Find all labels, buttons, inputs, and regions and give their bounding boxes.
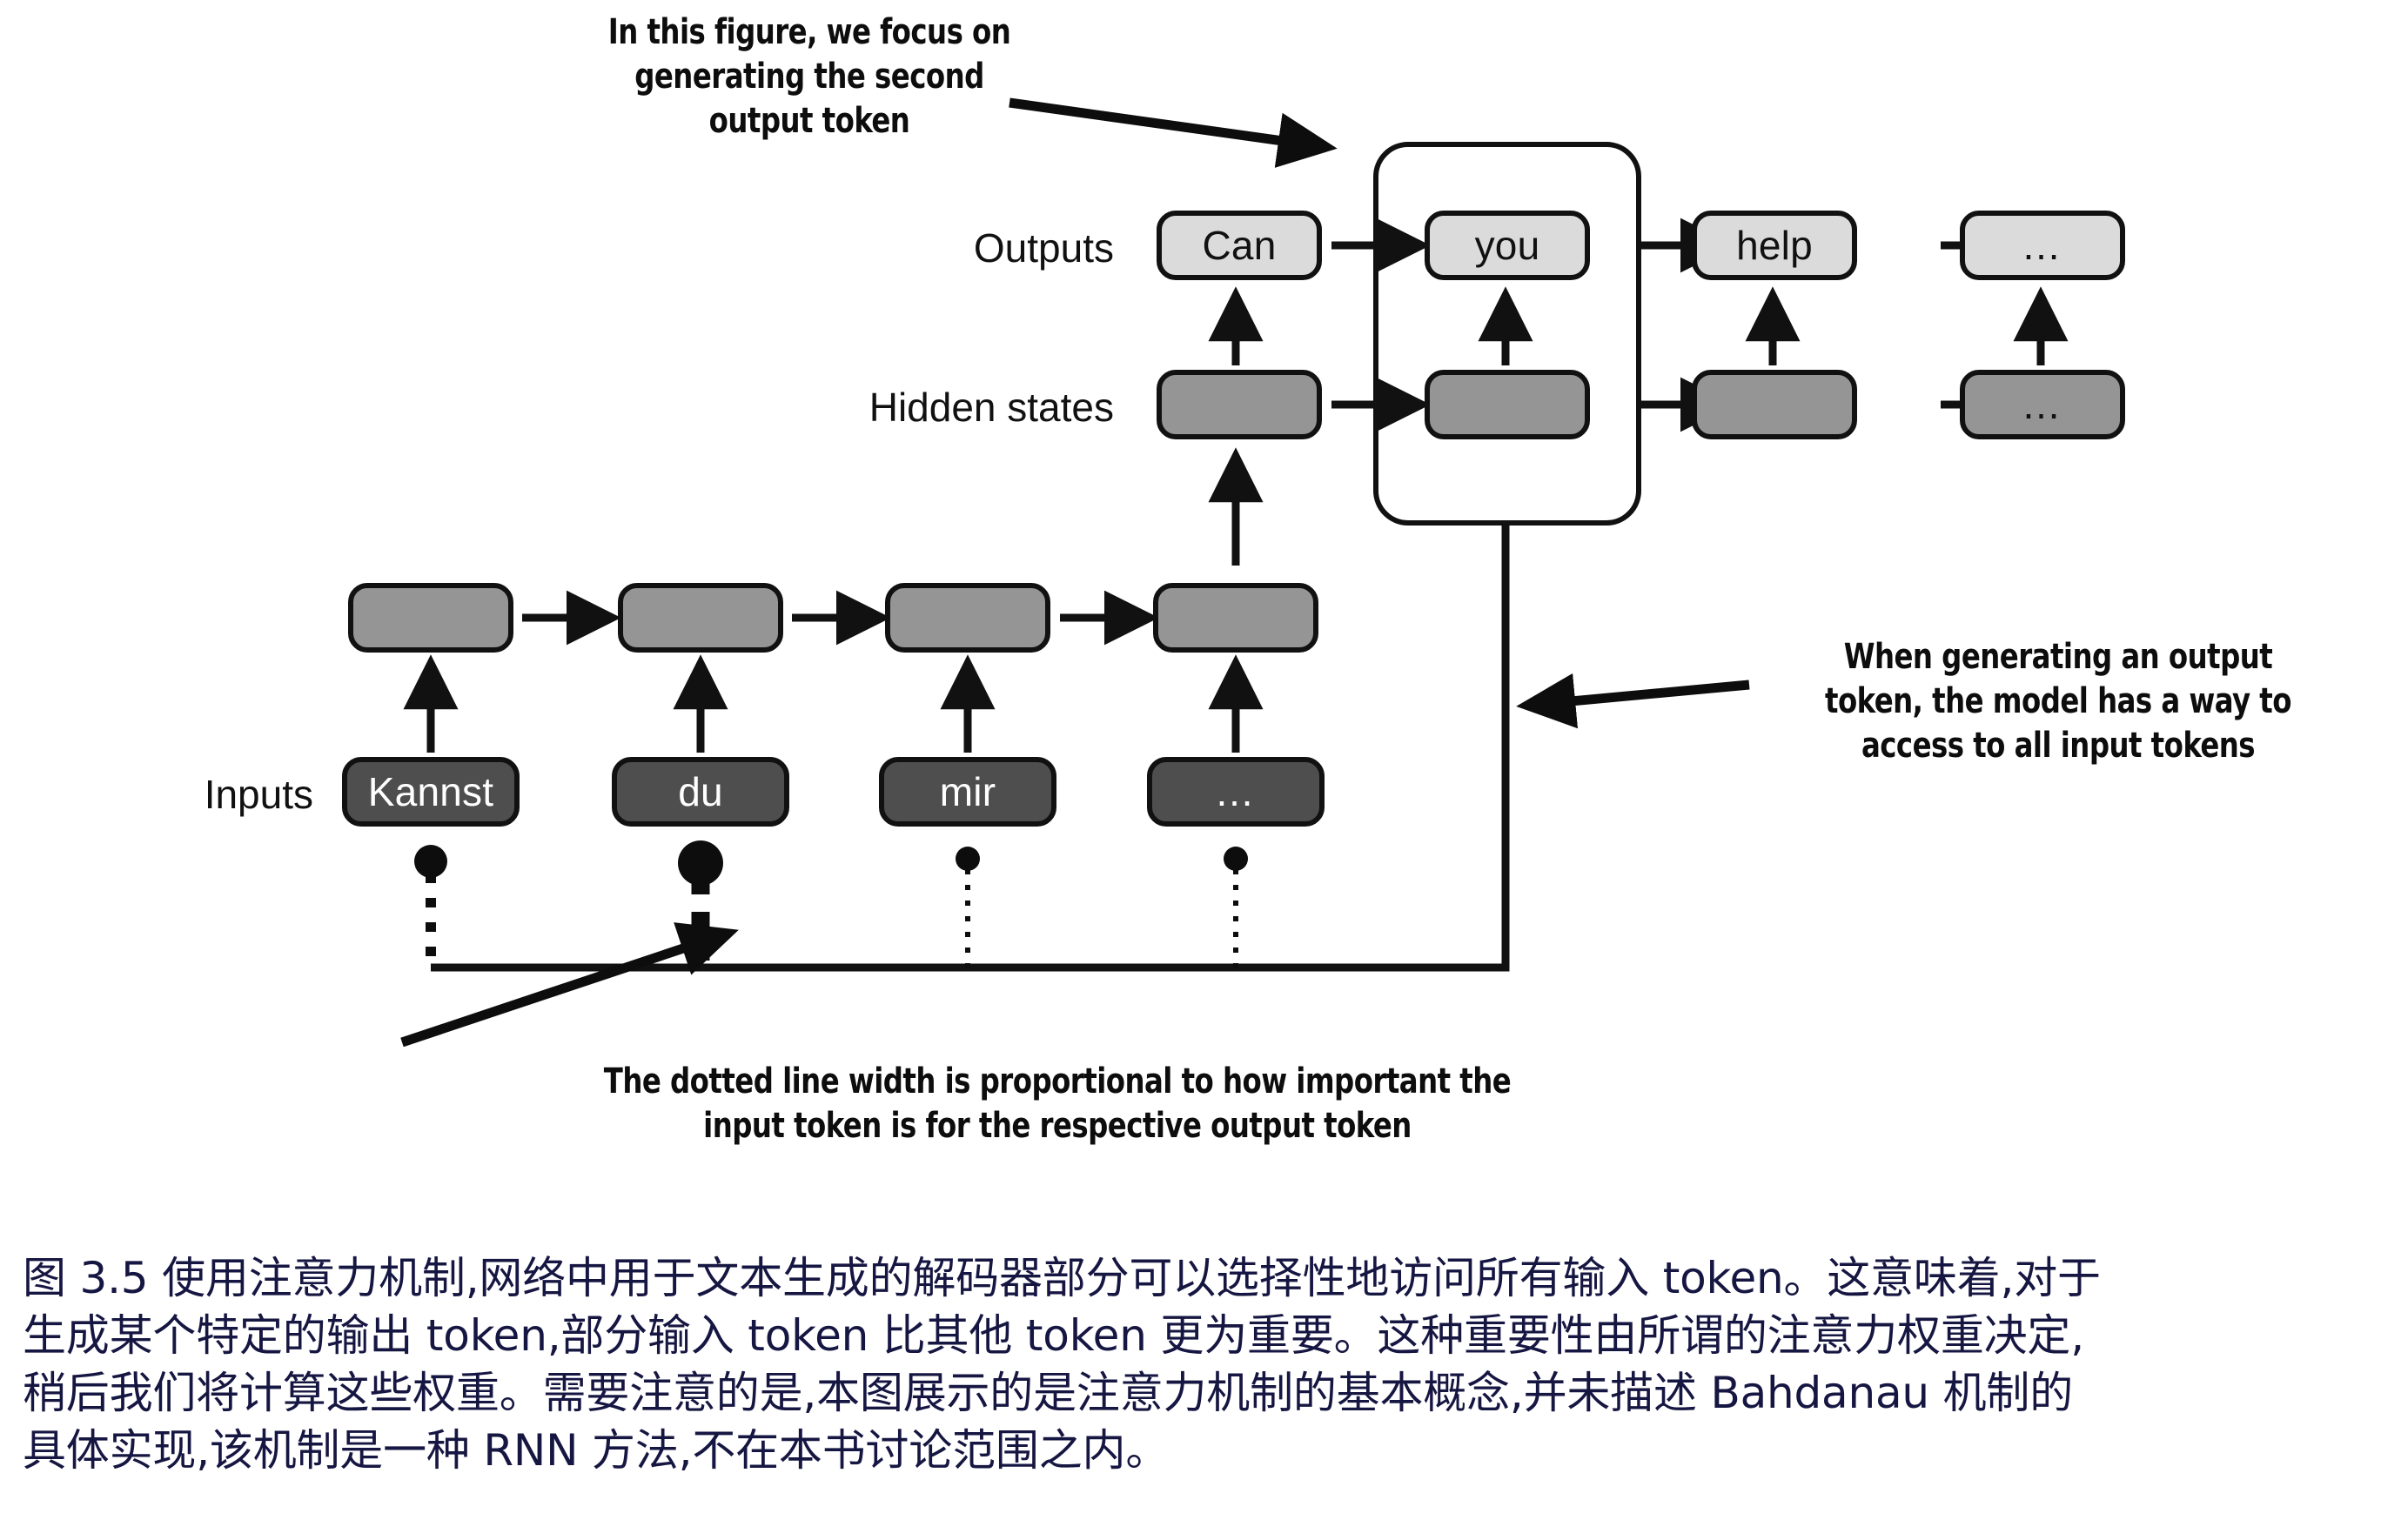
attention-dot-kannst [414,845,447,878]
attention-dot-du [678,840,723,886]
input-cell-mir-text: mir [940,772,996,812]
hidden-states-row-label: Hidden states [748,384,1114,431]
caption-line-3: 稍后我们将计算这些权重。需要注意的是,本图展示的是注意力机制的基本概念,并未描述… [23,1364,2364,1422]
annotation-right: When generating an output token, the mod… [1788,635,2329,769]
output-cell-4-text: … [2022,225,2064,265]
annotation-bottom-line-2: input token is for the respective output… [545,1104,1571,1148]
input-cell-ellipsis-text: … [1215,772,1258,812]
encoder-state-cell-2[interactable] [618,583,783,653]
output-cell-2[interactable]: you [1425,211,1590,280]
caption-line-1: 图 3.5 使用注意力机制,网络中用于文本生成的解码器部分可以选择性地访问所有输… [23,1249,2364,1307]
annotation-right-line-2: token, the model has a way to [1788,680,2329,724]
input-cell-du-text: du [678,772,723,812]
annotation-top-line-3: output token [567,99,1052,144]
caption-line-4: 具体实现,该机制是一种 RNN 方法,不在本书讨论范围之内。 [23,1422,2364,1479]
encoder-state-cell-1[interactable] [348,583,513,653]
encoder-state-cell-3[interactable] [885,583,1050,653]
focus-highlight-frame [1373,142,1641,526]
right-annotation-leader [1533,685,1749,705]
figure-caption: 图 3.5 使用注意力机制,网络中用于文本生成的解码器部分可以选择性地访问所有输… [23,1249,2364,1479]
annotation-top-line-1: In this figure, we focus on [567,10,1052,55]
top-annotation-leader [1009,103,1320,146]
attention-dot-ellipsis [1224,847,1248,871]
input-to-encoder-arrows [431,668,1236,753]
encoder-state-cell-4[interactable] [1153,583,1318,653]
outputs-row-label: Outputs [818,224,1114,271]
figure-canvas: Outputs Can you help … Hidden states … I… [0,0,2381,1540]
caption-line-2: 生成某个特定的输出 token,部分输入 token 比其他 token 更为重… [23,1307,2364,1364]
annotation-right-line-1: When generating an output [1788,635,2329,680]
output-cell-2-text: you [1475,225,1540,265]
output-cell-1[interactable]: Can [1157,211,1322,280]
hidden-state-cell-4[interactable]: … [1960,370,2125,439]
input-cell-kannst-text: Kannst [368,772,493,812]
annotation-top: In this figure, we focus on generating t… [567,10,1052,144]
input-cell-mir[interactable]: mir [879,757,1056,827]
hidden-state-cell-4-text: … [2022,385,2064,425]
output-cell-1-text: Can [1203,225,1277,265]
annotation-bottom-line-1: The dotted line width is proportional to… [545,1060,1571,1104]
hidden-state-cell-2[interactable] [1425,370,1590,439]
input-cell-du[interactable]: du [612,757,789,827]
input-cell-ellipsis[interactable]: … [1147,757,1325,827]
attention-lines [414,840,1248,968]
attention-dot-mir [956,847,980,871]
hidden-state-cell-3[interactable] [1692,370,1857,439]
inputs-row-label: Inputs [52,771,313,818]
output-cell-4[interactable]: … [1960,211,2125,280]
bottom-annotation-leader [402,935,722,1042]
input-cell-kannst[interactable]: Kannst [342,757,520,827]
output-cell-3[interactable]: help [1692,211,1857,280]
hidden-state-cell-1[interactable] [1157,370,1322,439]
annotation-bottom: The dotted line width is proportional to… [545,1060,1571,1148]
annotation-top-line-2: generating the second [567,55,1052,99]
annotation-right-line-3: access to all input tokens [1788,724,2329,768]
output-cell-3-text: help [1736,225,1813,265]
